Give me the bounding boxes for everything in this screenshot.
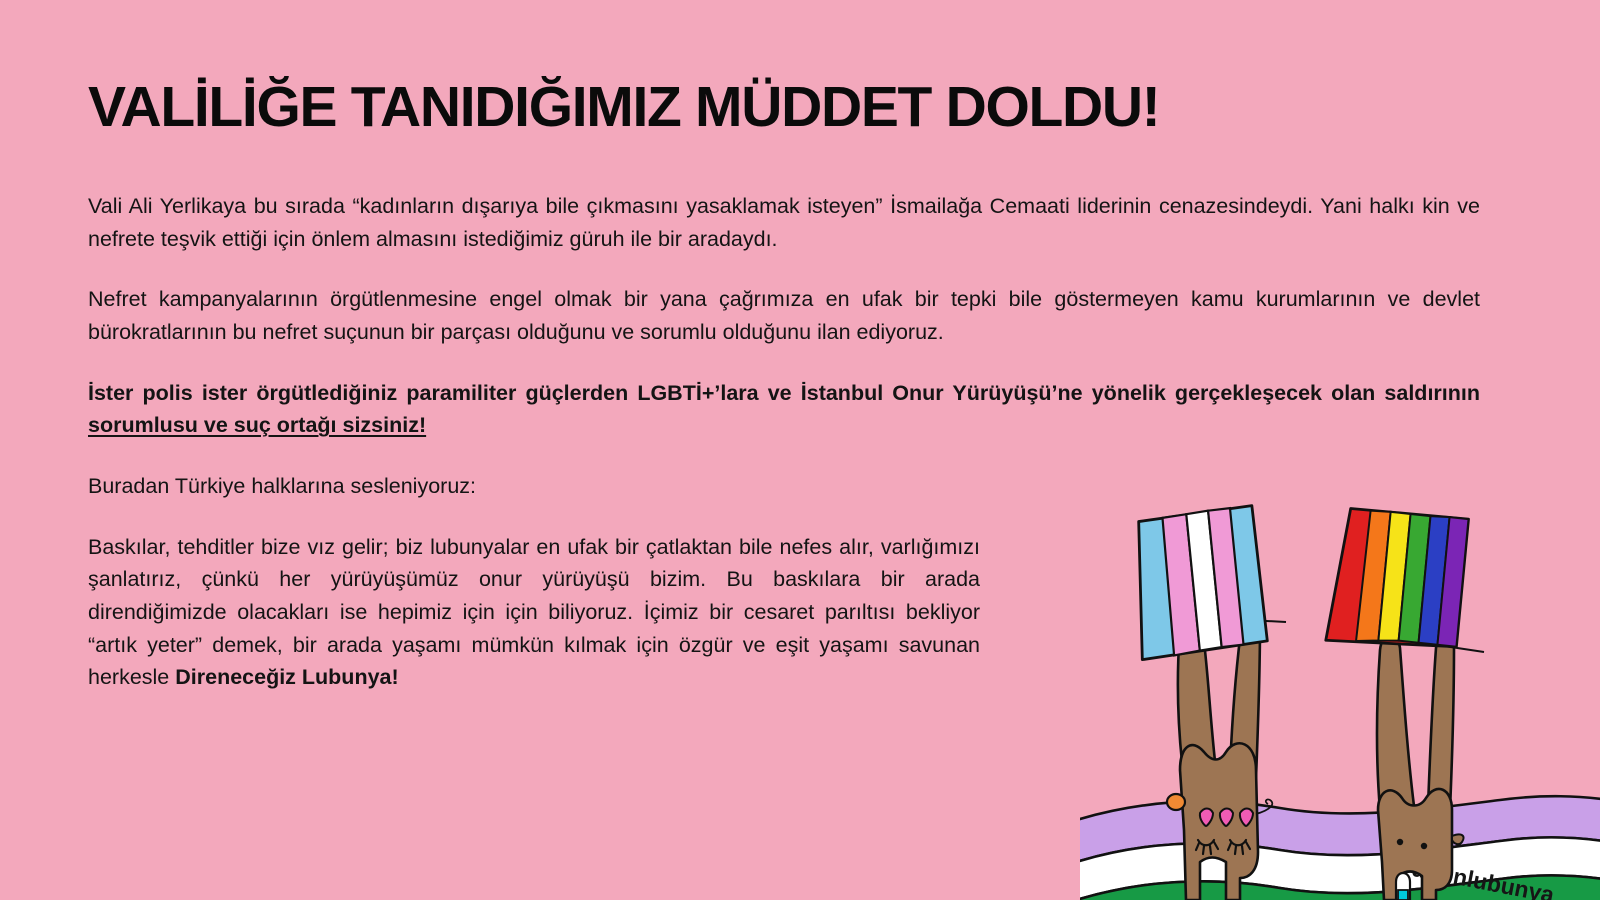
poster-canvas: VALİLİĞE TANIDIĞIMIZ MÜDDET DOLDU! Vali … [0,0,1600,900]
paragraph-3-underlined-accusation: sorumlusu ve suç ortağı sizsiniz! [88,413,426,437]
paragraph-4-address: Buradan Türkiye halklarına sesleniyoruz: [88,470,1480,503]
paragraph-2: Nefret kampanyalarının örgütlenmesine en… [88,283,1480,348]
paragraph-1: Vali Ali Yerlikaya bu sırada “kadınların… [88,190,1480,255]
paragraph-5-slogan: Direneceğiz Lubunya! [175,665,398,689]
paragraph-5: Baskılar, tehditler bize vız gelir; biz … [88,531,980,694]
poster-content: VALİLİĞE TANIDIĞIMIZ MÜDDET DOLDU! Vali … [88,0,1480,900]
page-title: VALİLİĞE TANIDIĞIMIZ MÜDDET DOLDU! [88,78,1418,138]
paragraph-3: İster polis ister örgütlediğiniz paramil… [88,377,1480,442]
poster-body-text: Vali Ali Yerlikaya bu sırada “kadınların… [88,190,1480,722]
paragraph-3-lead: İster polis ister örgütlediğiniz paramil… [88,381,1480,405]
